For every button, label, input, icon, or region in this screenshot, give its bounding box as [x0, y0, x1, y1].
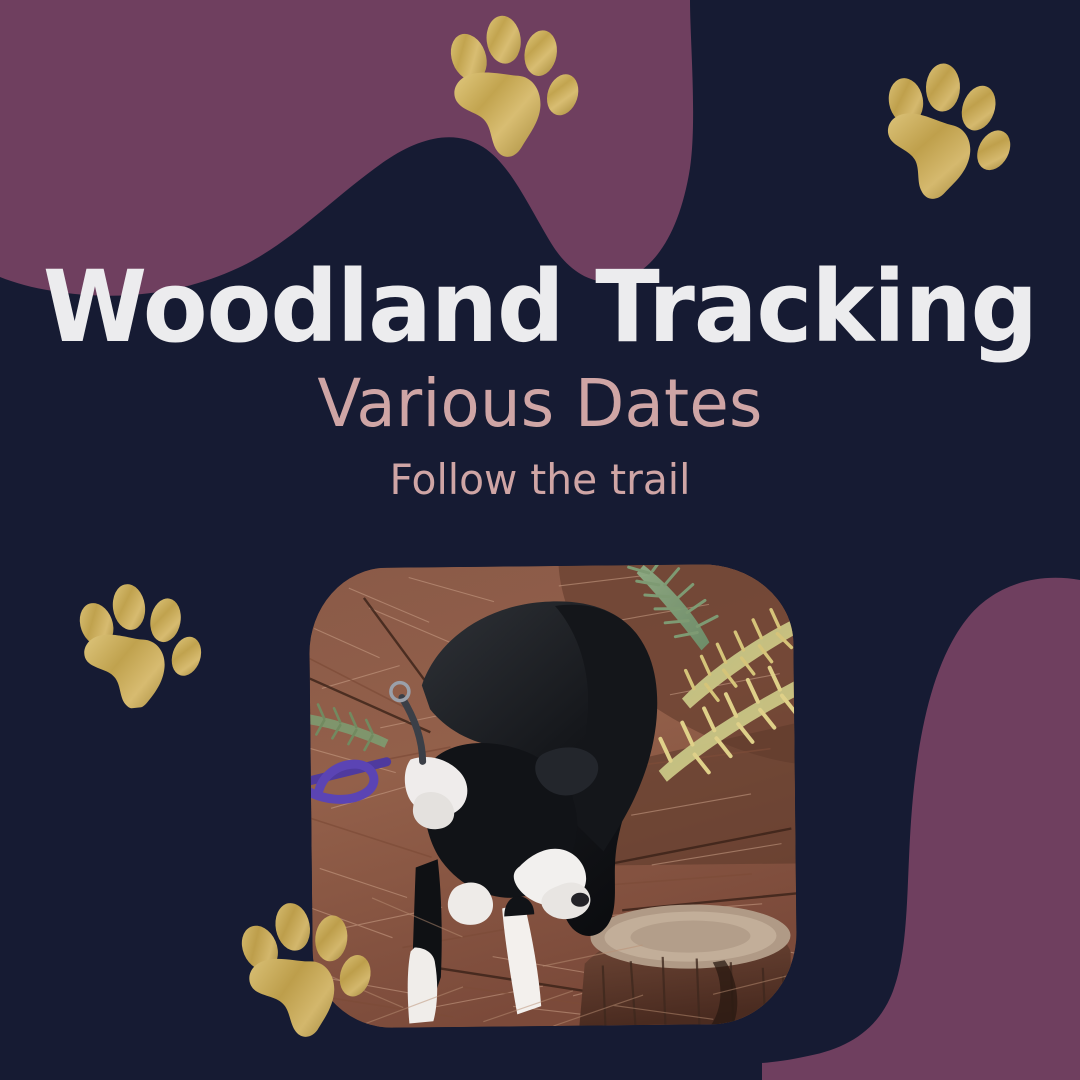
- paw-print-icon: [873, 56, 1022, 204]
- headline-block: Woodland Tracking Various Dates Follow t…: [0, 258, 1080, 501]
- page-title: Woodland Tracking: [24, 258, 1055, 357]
- poster-canvas: Woodland Tracking Various Dates Follow t…: [0, 0, 1080, 1080]
- event-dates: Various Dates: [16, 371, 1064, 437]
- dog-photo: [309, 563, 798, 1028]
- paw-print-icon: [69, 576, 212, 713]
- paw-print-icon: [228, 888, 386, 1047]
- event-tagline: Follow the trail: [16, 459, 1064, 501]
- paw-print-icon: [442, 9, 589, 164]
- dog-photo-image: [309, 563, 798, 1028]
